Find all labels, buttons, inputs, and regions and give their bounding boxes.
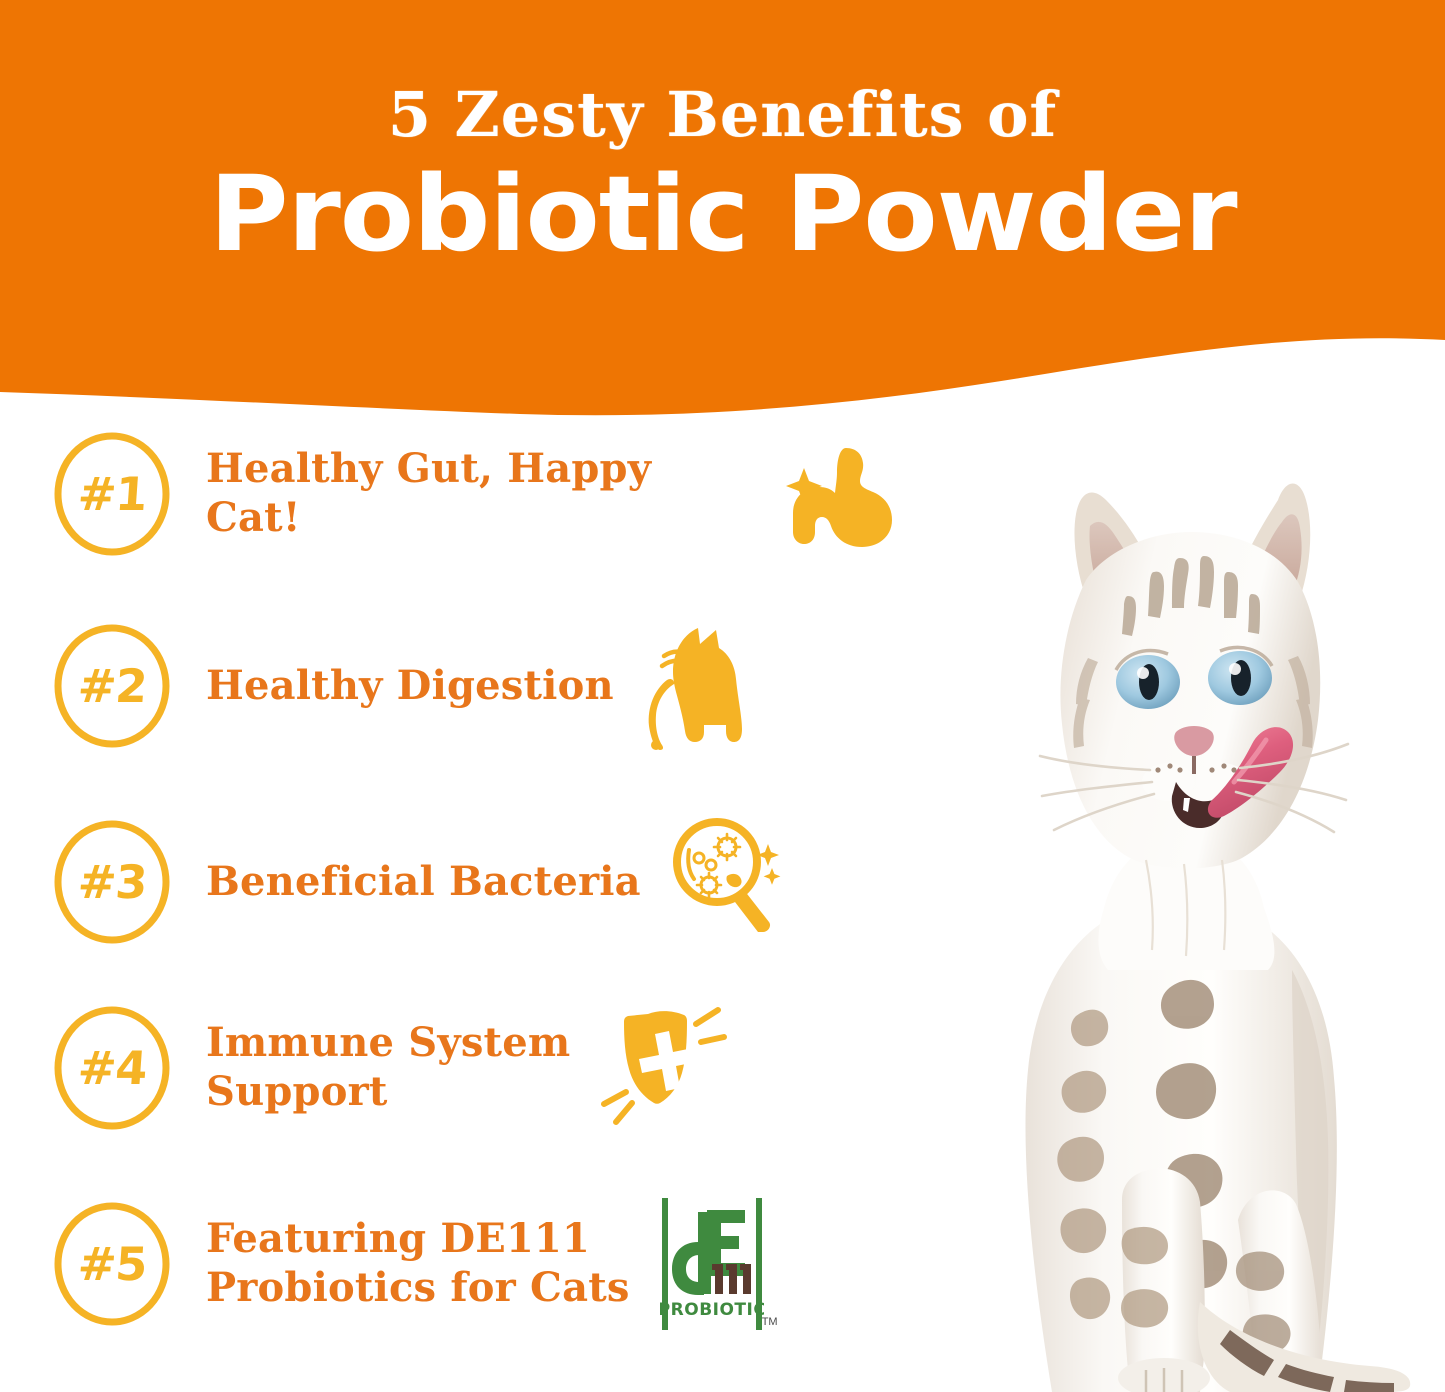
benefit-body-3: Beneficial Bacteria — [206, 814, 900, 950]
benefit-text-1: Healthy Gut, Happy Cat! — [206, 445, 756, 543]
badge-label: #5 — [76, 1241, 148, 1287]
badge-number-4: #4 — [50, 1006, 174, 1130]
infographic-page: 5 Zesty Benefits of Probiotic Powder #1 … — [0, 0, 1445, 1392]
badge-number-1: #1 — [50, 432, 174, 556]
header-wave-shape — [0, 0, 1445, 420]
badge-label: #2 — [76, 663, 148, 709]
de111-logo: PROBIOTIC TM — [660, 1198, 764, 1330]
benefit-text-5: Featuring DE111 Probiotics for Cats — [206, 1215, 630, 1313]
badge-label: #4 — [76, 1045, 148, 1091]
badge-number-2: #2 — [50, 624, 174, 748]
benefit-text-3: Beneficial Bacteria — [206, 858, 641, 907]
benefit-text-4: Immune System Support — [206, 1019, 570, 1117]
badge-label: #1 — [76, 471, 148, 517]
magnifier-bacteria-icon — [665, 814, 791, 950]
stomach-sparkle-icon — [780, 442, 900, 547]
benefit-body-5: Featuring DE111 Probiotics for Cats — [206, 1198, 900, 1330]
header-banner: 5 Zesty Benefits of Probiotic Powder — [0, 0, 1445, 420]
badge-number-5: #5 — [50, 1202, 174, 1326]
benefit-item-4: #4 Immune System Support — [50, 1004, 900, 1132]
benefit-body-2: Healthy Digestion — [206, 622, 900, 750]
benefit-item-1: #1 Healthy Gut, Happy Cat! — [50, 432, 900, 556]
benefit-body-1: Healthy Gut, Happy Cat! — [206, 442, 900, 547]
benefit-item-5: #5 Featuring DE111 Probiotics for Cats — [50, 1198, 900, 1330]
benefit-body-4: Immune System Support — [206, 1004, 900, 1132]
sitting-cat-icon — [638, 622, 756, 750]
badge-label: #3 — [76, 859, 148, 905]
benefit-text-2: Healthy Digestion — [206, 662, 614, 711]
badge-number-3: #3 — [50, 820, 174, 944]
cat-illustration — [900, 430, 1445, 1392]
benefit-item-2: #2 Healthy Digestion — [50, 622, 900, 750]
benefit-item-3: #3 Beneficial Bacteria — [50, 814, 900, 950]
de111-wordmark: PROBIOTIC — [660, 1300, 764, 1320]
trademark-symbol: TM — [762, 1316, 778, 1328]
benefits-list: #1 Healthy Gut, Happy Cat! #2 — [50, 432, 900, 1372]
shield-plus-icon — [594, 1004, 728, 1132]
cat-photo — [900, 430, 1445, 1392]
